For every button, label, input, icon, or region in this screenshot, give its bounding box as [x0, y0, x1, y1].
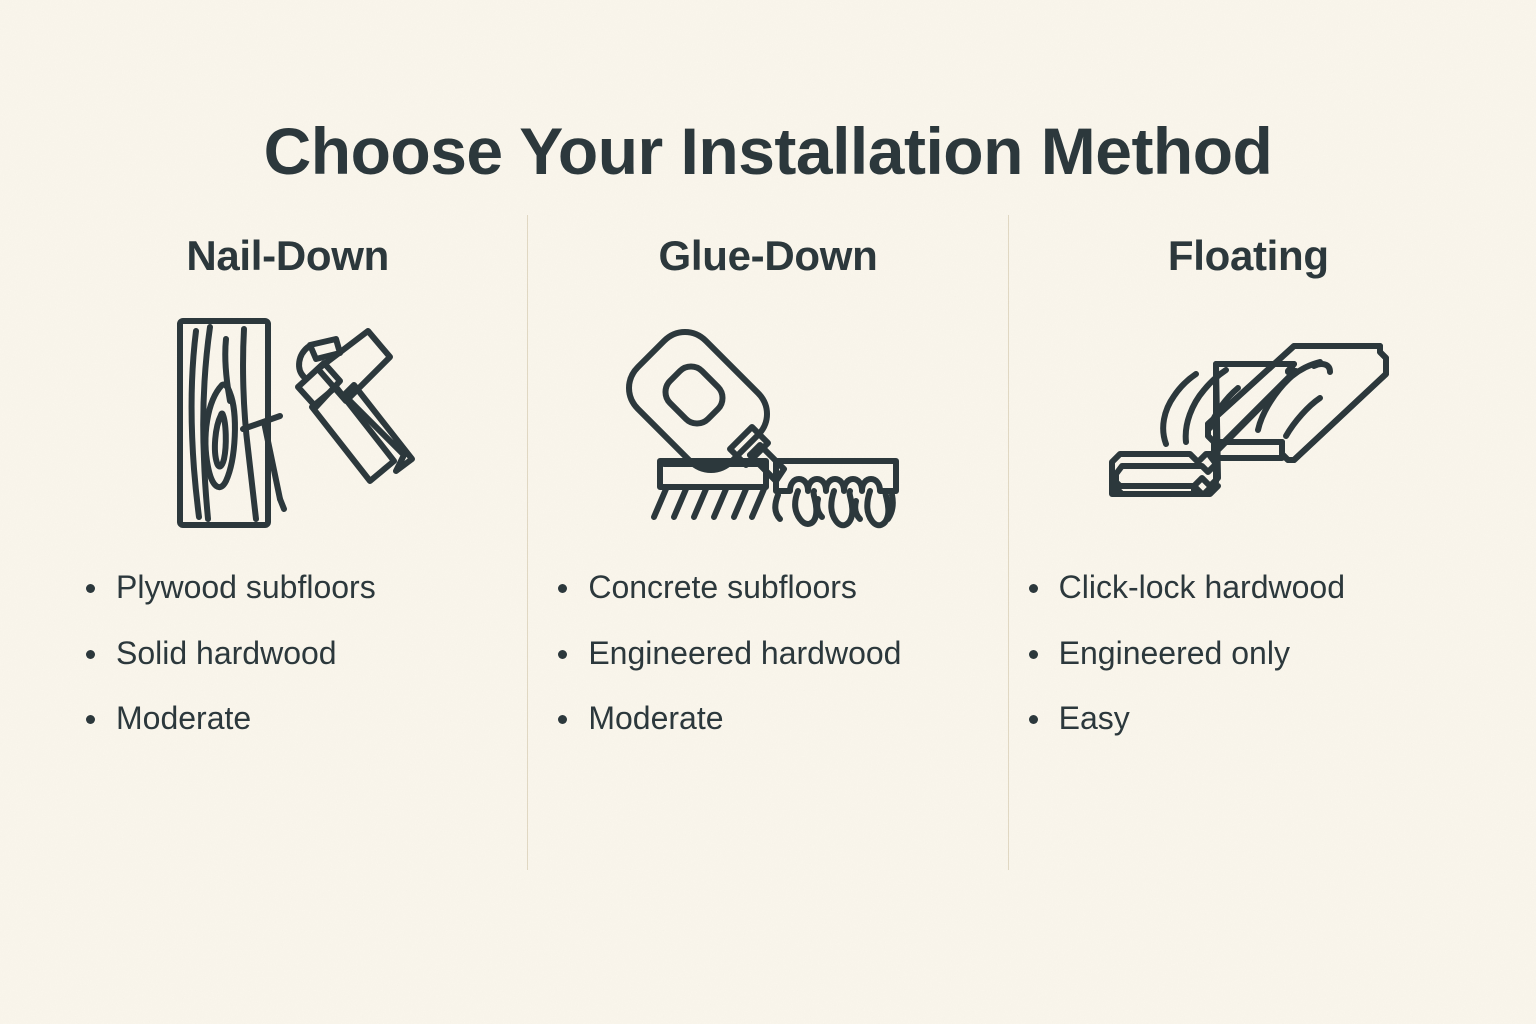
- infographic-page: Choose Your Installation Method Nail-Dow…: [0, 0, 1536, 1024]
- glue-bottle-trowel-icon: [538, 299, 997, 549]
- bullet-dot-icon: [558, 584, 567, 593]
- method-column-floating: Floating: [1009, 215, 1488, 870]
- list-item-label: Click-lock hardwood: [1059, 569, 1345, 605]
- bullet-dot-icon: [1029, 715, 1038, 724]
- column-heading-floating: Floating: [1019, 215, 1478, 277]
- page-title: Choose Your Installation Method: [0, 118, 1536, 184]
- method-column-glue-down: Glue-Down: [528, 215, 1007, 870]
- list-item: Click-lock hardwood: [1019, 571, 1478, 605]
- list-item-label: Solid hardwood: [116, 635, 337, 671]
- bullet-dot-icon: [1029, 584, 1038, 593]
- list-item: Engineered only: [1019, 637, 1478, 671]
- list-item: Easy: [1019, 702, 1478, 736]
- column-heading-nail-down: Nail-Down: [58, 215, 517, 277]
- list-item: Engineered hardwood: [548, 637, 997, 671]
- list-item: Moderate: [548, 702, 997, 736]
- list-item-label: Moderate: [116, 700, 251, 736]
- list-item-label: Engineered hardwood: [588, 635, 901, 671]
- method-columns: Nail-Down: [48, 215, 1488, 870]
- method-column-nail-down: Nail-Down: [48, 215, 527, 870]
- bullet-dot-icon: [86, 584, 95, 593]
- list-item: Moderate: [76, 702, 517, 736]
- list-item-label: Engineered only: [1059, 635, 1290, 671]
- list-item-label: Plywood subfloors: [116, 569, 376, 605]
- list-item-label: Moderate: [588, 700, 723, 736]
- list-item-label: Concrete subfloors: [588, 569, 857, 605]
- bullet-list-floating: Click-lock hardwood Engineered only Easy: [1019, 571, 1478, 736]
- bullet-dot-icon: [86, 650, 95, 659]
- list-item: Solid hardwood: [76, 637, 517, 671]
- bullet-dot-icon: [86, 715, 95, 724]
- column-heading-glue-down: Glue-Down: [538, 215, 997, 277]
- bullet-dot-icon: [558, 715, 567, 724]
- list-item: Concrete subfloors: [548, 571, 997, 605]
- click-lock-planks-icon: [1019, 299, 1478, 549]
- bullet-list-glue-down: Concrete subfloors Engineered hardwood M…: [548, 571, 997, 736]
- bullet-dot-icon: [1029, 650, 1038, 659]
- list-item: Plywood subfloors: [76, 571, 517, 605]
- plank-hammer-nail-icon: [58, 299, 517, 549]
- bullet-list-nail-down: Plywood subfloors Solid hardwood Moderat…: [76, 571, 517, 736]
- bullet-dot-icon: [558, 650, 567, 659]
- list-item-label: Easy: [1059, 700, 1130, 736]
